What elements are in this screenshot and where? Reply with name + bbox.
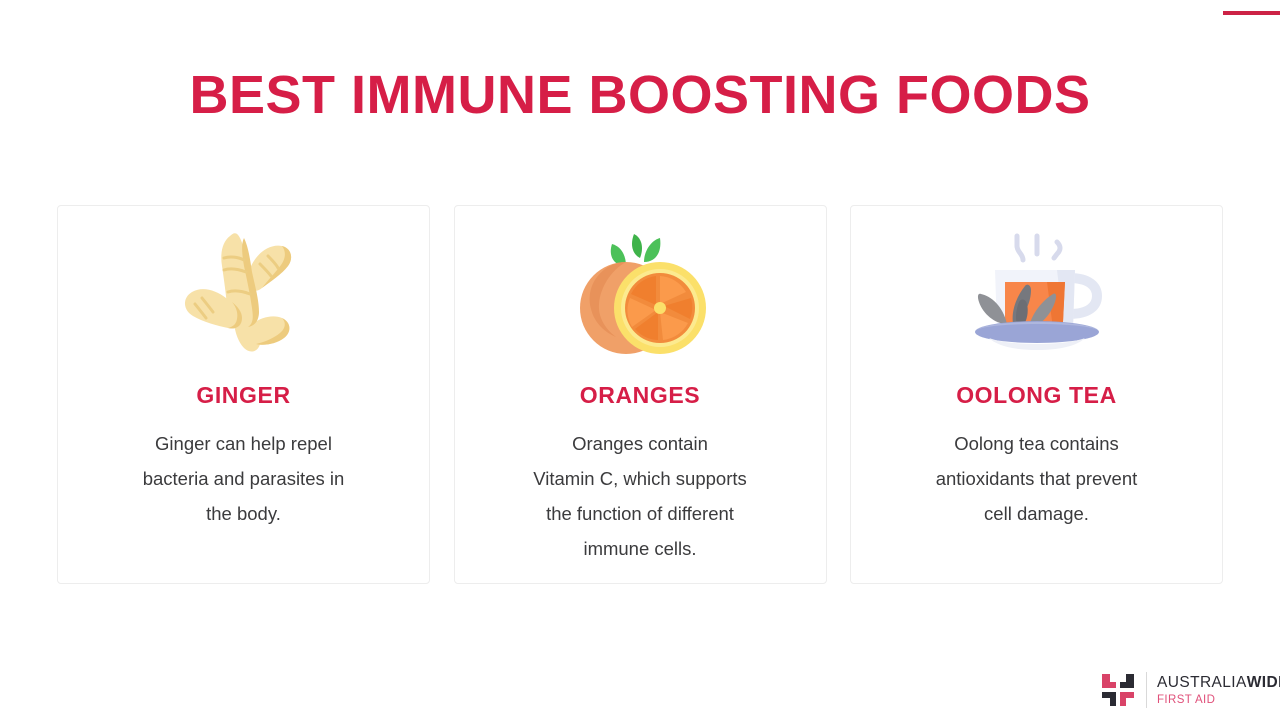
card-body-text: Oranges contain Vitamin C, which support…: [490, 426, 790, 566]
logo-divider: [1146, 672, 1147, 708]
slide-canvas: BEST IMMUNE BOOSTING FOODS: [0, 0, 1280, 720]
food-card-grid: GINGER Ginger can help repel bacteria an…: [57, 205, 1223, 584]
card-title: OOLONG TEA: [956, 382, 1117, 409]
logo-name-bold: WIDE: [1247, 674, 1280, 691]
food-card-ginger[interactable]: GINGER Ginger can help repel bacteria an…: [57, 205, 430, 584]
ginger-root-icon: [164, 228, 324, 360]
food-card-oranges[interactable]: ORANGES Oranges contain Vitamin C, which…: [454, 205, 827, 584]
food-card-oolong-tea[interactable]: OOLONG TEA Oolong tea contains antioxida…: [850, 205, 1223, 584]
page-title: BEST IMMUNE BOOSTING FOODS: [0, 62, 1280, 128]
logo-name-regular: AUSTRALIA: [1157, 674, 1247, 691]
logo-wordmark: AUSTRALIAWIDE FIRST AID: [1157, 674, 1280, 707]
australia-wide-cross-icon: [1098, 670, 1138, 710]
card-body-text: Ginger can help repel bacteria and paras…: [94, 426, 394, 531]
tea-cup-icon: [957, 228, 1117, 360]
card-title: GINGER: [196, 382, 290, 409]
top-right-accent-bar: [1223, 11, 1280, 15]
brand-logo: AUSTRALIAWIDE FIRST AID: [1098, 668, 1270, 712]
logo-company-name: AUSTRALIAWIDE: [1157, 674, 1280, 692]
card-body-text: Oolong tea contains antioxidants that pr…: [887, 426, 1187, 531]
orange-fruit-icon: [560, 228, 720, 360]
card-title: ORANGES: [580, 382, 701, 409]
logo-tagline: FIRST AID: [1157, 693, 1280, 707]
